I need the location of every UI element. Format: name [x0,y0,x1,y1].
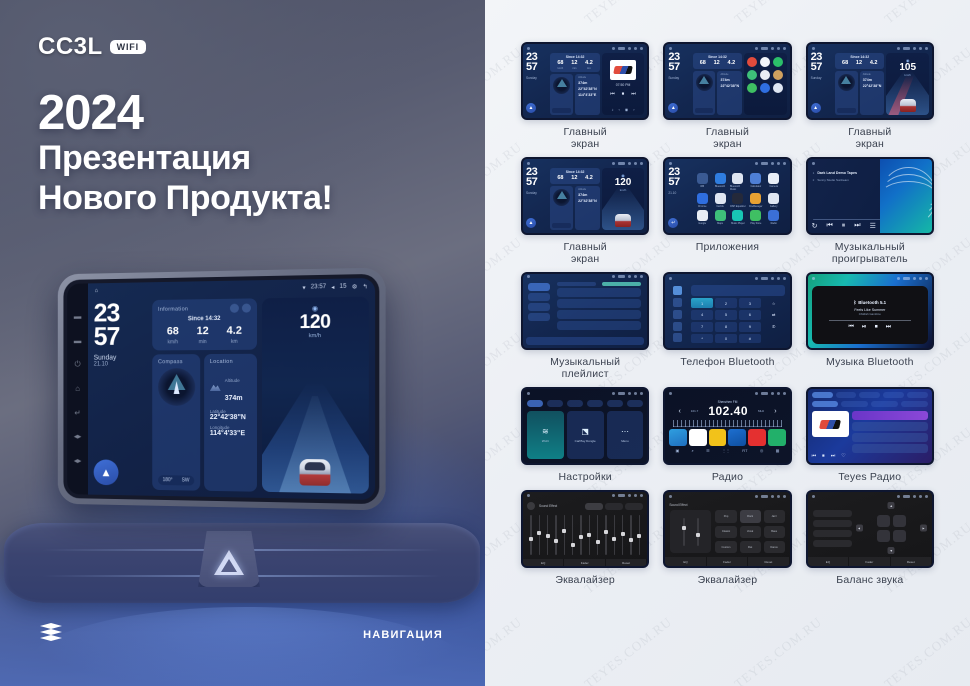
now-playing-bar[interactable] [526,337,644,345]
app-cell[interactable]: Carlink [712,193,728,208]
thumb-nav-button[interactable]: ▲ [526,218,536,228]
speed-panel: ◉ 105 km/h [886,53,929,115]
app-icon[interactable] [697,210,708,221]
list-item[interactable]: 23 57 Sunday ▲ Since 14:32 68km/h [521,42,649,150]
hazard-light-button[interactable] [198,531,260,587]
thumbnail-bt-phone[interactable]: 123☆456⇄789✆*0# [663,272,791,350]
playlist-tab[interactable] [528,293,550,301]
list-item[interactable] [557,299,641,308]
app-icon[interactable] [715,193,726,204]
next-station-icon[interactable]: › [774,408,776,415]
dialpad-spacer [763,334,785,344]
app-icon[interactable] [750,193,761,204]
volume-up-button[interactable]: ◂▸ [73,433,82,442]
location-title: Location [210,359,251,365]
reset-tab[interactable]: Reset [748,557,789,566]
play-pause-icon[interactable]: ⏯ [862,324,867,331]
app-icon[interactable] [697,173,708,184]
settings-tab[interactable] [567,400,583,407]
compass-title: Compass [158,359,194,365]
app-cell[interactable]: Bluetooth [712,173,728,191]
thumbnail-bt-music[interactable]: ᛒ Bluetooth 5.1 Feels Like Summer Childi… [806,272,934,350]
car-dashboard: ▬ ▬ ⏻ ⌂ ↵ ◂▸ ◂▸ ⌂ ▾ 23:57 [0,255,485,686]
eq-preset-button[interactable]: Classic [715,526,736,538]
station-row[interactable] [852,433,928,442]
nav-tab[interactable] [907,392,928,398]
app-label: Music Player [731,222,745,225]
dialpad-tab[interactable] [673,286,682,295]
thumbnail-settings[interactable]: ≋ Wi-Fi ⬔ CarPlay Dongle ⋯ Menu [521,387,649,465]
car-icon [615,214,631,227]
list-item[interactable] [557,288,641,297]
app-icon[interactable] [747,83,757,93]
balance-pad[interactable]: ▴ ▾ ◂ ▸ [856,503,927,553]
eq-band-slider[interactable] [612,515,616,555]
list-item[interactable]: 23 57 Sunday ▲ Since 14:32 68 [806,42,934,150]
media-widget[interactable]: 07:50 PM ⏮⏹⏭ ♪‹◉› [602,53,645,115]
eq-button[interactable]: ▬ [73,337,82,346]
prev-station-icon[interactable]: ‹ [678,408,680,415]
app-icon[interactable] [768,210,779,221]
expand-icon[interactable] [242,303,251,312]
thumb-nav-button[interactable]: ▲ [668,103,678,113]
next-icon[interactable]: ⏭ [831,453,836,459]
app-icon[interactable] [773,70,783,80]
thumbnail-music-player[interactable]: 1Dark Land Demo Tapes 2Sunny Studio Sunb… [806,157,934,235]
prev-icon[interactable]: ⏮ [812,453,817,459]
compass-heading: 180° [163,477,173,483]
prev-icon[interactable]: ⏮ [849,324,854,331]
tab[interactable] [557,282,596,286]
thumb-clock-mm: 57 [526,63,548,73]
eq-preset-button[interactable]: Custom [715,541,736,553]
eq-tab[interactable]: EQ [665,557,706,566]
eq-band-slider[interactable] [579,515,583,555]
app-icon[interactable] [773,57,783,67]
information-title: Information [158,306,188,312]
slider-knob[interactable] [537,531,541,535]
stop-icon[interactable]: ⏹ [875,324,878,331]
slider-knob[interactable] [604,530,608,534]
settings-tab[interactable] [673,333,682,342]
list-icon[interactable]: ☰ [706,448,710,453]
navigation-button[interactable]: ▲ [94,459,119,485]
bluetooth-badge: ᛒ Bluetooth 5.1 [854,300,886,305]
head-unit-side-buttons: ▬ ▬ ⏻ ⌂ ↵ ◂▸ ◂▸ [67,283,88,494]
balance-button[interactable] [813,540,852,547]
eq-band-slider[interactable] [621,515,625,555]
balance-down-arrow[interactable]: ▾ [888,547,895,554]
app-icon[interactable] [750,210,761,221]
head-unit-screen[interactable]: ⌂ ▾ 23:57 ◂ 15 ⚙ ↰ 23 57 [88,278,375,500]
app-icon[interactable] [747,57,757,67]
volume-down-button[interactable]: ◂▸ [73,457,82,466]
list-item[interactable]: ≋ Wi-Fi ⬔ CarPlay Dongle ⋯ Menu [521,387,649,483]
balance-button[interactable] [813,510,852,517]
stat-unit: km/h [167,339,179,345]
app-icon[interactable] [773,83,783,93]
app-cell[interactable]: Maps [712,210,728,225]
app-cell[interactable]: Wifi [694,173,710,191]
slider-knob[interactable] [562,529,566,533]
app-icon[interactable] [768,173,779,184]
speed-panel: ◉ 120 km/h [602,168,645,230]
station-row[interactable] [852,444,928,453]
list-item[interactable]: 1Dark Land Demo Tapes 2Sunny Studio Sunb… [806,157,934,265]
home-indicator-icon: ⌂ [95,288,98,294]
eq-band-slider[interactable] [571,515,575,555]
app-cell[interactable]: Camera [766,173,782,191]
eq-band-slider[interactable] [554,515,558,555]
eq-preset-button[interactable]: Jazz [764,510,785,522]
thumbnail-home-speed-105[interactable]: 23 57 Sunday ▲ Since 14:32 68 [806,42,934,120]
thumbnail-equalizer[interactable]: Sound Effect EQ Fader Reset [521,490,649,568]
settings-tab[interactable] [587,400,603,407]
list-item[interactable]: Shenzhen FM ‹ 101.7 102.40 MHz › [663,387,791,483]
app-label: Bluetooth Music [730,185,746,191]
settings-card[interactable]: ⬔ CarPlay Dongle [567,411,604,459]
rds-icon[interactable]: RT [742,448,747,453]
compass-direction: SW [182,477,190,483]
list-item[interactable]: 23 57 Sunday ▲ Since 14:32 68 [663,42,791,150]
settings-card[interactable]: ≋ Wi-Fi [527,411,564,459]
list-item[interactable]: Sound Effect EQ Fader Reset [521,490,649,586]
eq-band-slider[interactable] [604,515,608,555]
watermark-text: TEYES.COM.RU [581,614,675,686]
thumbnail-home-media[interactable]: 23 57 Sunday ▲ Since 14:32 68km/h [521,42,649,120]
eq-band-slider[interactable] [596,515,600,555]
slider-knob[interactable] [612,537,616,541]
playlist-tab[interactable] [528,283,550,291]
app-cell[interactable]: Bluetooth Music [730,173,746,191]
eq-band-slider[interactable] [537,515,541,555]
widgets-column: Information Since 14:32 68 [152,298,257,491]
dialpad-key[interactable]: 4 [691,310,713,320]
stop-icon[interactable]: ⏹ [822,453,825,459]
app-cell[interactable]: Music Player [730,210,746,225]
refresh-icon[interactable] [230,304,239,313]
stat-unit: km [227,339,242,345]
slider-knob[interactable] [596,540,600,544]
tuning-scale[interactable] [673,420,781,427]
thumb-stat: 4.2 [585,61,593,67]
thumbnail-teyes-radio[interactable]: ⏮ ⏹ ⏭ ♡ [806,387,934,465]
thumbnail-grid: 23 57 Sunday ▲ Since 14:32 68km/h [485,0,970,597]
slider-knob[interactable] [579,535,583,539]
thumbnail-caption: Настройки [559,471,612,483]
balance-button[interactable] [813,520,852,527]
media-time: 07:50 PM [616,83,631,87]
dialpad-key[interactable]: 8 [715,322,737,332]
stat-value: 4.2 [227,326,242,337]
speed-panel: ◉ 120 km/h [262,297,369,494]
filter-chip[interactable] [871,401,898,407]
head-unit-bezel: ▬ ▬ ⏻ ⌂ ↵ ◂▸ ◂▸ ⌂ ▾ 23:57 [58,268,386,511]
eq-preset-button[interactable]: Flat [740,541,761,553]
tab[interactable] [602,282,641,286]
dialpad-key[interactable]: # [739,334,761,344]
station-tile[interactable] [768,429,786,446]
balance-left-arrow[interactable]: ◂ [856,525,863,532]
fader-sliders[interactable] [670,510,711,553]
dialpad-key[interactable]: 5 [715,310,737,320]
thumbnail-caption: Музыкальный проигрыватель [832,241,908,265]
slider-knob[interactable] [587,533,591,537]
eq-preset-button[interactable]: Pop [715,510,736,522]
list-item[interactable]: ᛒ Bluetooth 5.1 Feels Like Summer Childi… [806,272,934,380]
slider-knob[interactable] [546,534,550,538]
eq-band-slider[interactable] [587,515,591,555]
app-label: DSP Equalizer [730,205,746,208]
grid-icon[interactable]: ▦ [776,448,780,453]
mountain-icon [210,383,221,391]
dialpad-key[interactable]: 1 [691,298,713,308]
dialpad-key[interactable]: 0 [715,334,737,344]
fader-tab[interactable]: Fader [849,557,890,566]
prev-icon[interactable]: ⏮ [610,91,615,97]
contacts-tab[interactable] [673,298,682,307]
dialpad-key[interactable]: 6 [739,310,761,320]
prev-icon[interactable]: ⏮ [826,222,832,230]
music-visualizer [880,159,932,233]
slider-knob[interactable] [637,534,641,538]
eq-band-slider[interactable] [629,515,633,555]
favorite-icon[interactable]: ♡ [841,453,845,459]
progress-bar[interactable] [829,320,910,321]
settings-tab[interactable] [627,400,643,407]
album-art [812,411,849,437]
playlist-tab[interactable] [528,303,550,311]
slider-knob[interactable] [621,532,625,536]
list-item[interactable] [557,321,641,330]
dialpad-function-key[interactable]: ✆ [763,322,785,332]
thumbnail-caption: Музыка Bluetooth [826,356,914,368]
nav-tab[interactable] [883,392,904,398]
bt-music-card: ᛒ Bluetooth 5.1 Feels Like Summer Childi… [812,286,928,344]
app-cell[interactable]: DSP Equalizer [730,193,746,208]
dialpad-key[interactable]: 2 [715,298,737,308]
compass-dial [158,368,195,406]
station-tile[interactable] [669,429,687,446]
watermark-text: TEYES.COM.RU [881,614,970,686]
gear-icon[interactable]: ⚙ [352,283,358,290]
repeat-icon[interactable]: ↻ [812,222,818,230]
car-icon [900,99,916,112]
band-icon[interactable]: ▣ [675,448,679,453]
app-cell[interactable]: Radio [766,210,782,225]
settings-tab[interactable] [527,400,543,407]
list-item[interactable]: 123☆456⇄789✆*0# Телефон Bluetooth [663,272,791,380]
track-title[interactable]: Dark Land Demo Tapes [817,171,857,175]
thumbnail-playlist[interactable] [521,272,649,350]
eq-preset-button[interactable]: Vocal [740,526,761,538]
app-cell[interactable]: FileManager [748,193,764,208]
eq-preset-button[interactable]: Rock [740,510,761,522]
slider-knob[interactable] [629,538,633,542]
phone-number-field[interactable] [691,285,784,296]
dialpad-key[interactable]: * [691,334,713,344]
eq-band-slider[interactable] [637,515,641,555]
bt-track-artist: Childish Gambino [859,312,881,316]
back-button[interactable]: ↵ [668,218,678,228]
search-tab[interactable] [673,310,682,319]
slider-knob[interactable] [554,539,558,543]
apps-side-panel[interactable] [744,53,787,115]
power-button[interactable]: ⏻ [73,361,82,370]
track-subtitle[interactable]: Sunny Studio Sunbeam [817,178,849,182]
next-icon[interactable]: ⏭ [631,91,636,97]
thumbnail-apps[interactable]: 23 57 21.10 ↵ WifiBluetoothBluetooth Mus… [663,157,791,235]
app-icon[interactable] [715,210,726,221]
thumbnail-home-speed-120[interactable]: 23 57 Sunday ▲ Since 14:32 68 [521,157,649,235]
thumb-nav-button[interactable]: ▲ [526,103,536,113]
thumbnail-radio[interactable]: Shenzhen FM ‹ 101.7 102.40 MHz › [663,387,791,465]
filter-chip[interactable] [841,401,868,407]
search-icon[interactable]: ⌕ [692,448,694,453]
clock-date: 21.10 [94,361,148,367]
station-row[interactable] [852,422,928,431]
reset-tab[interactable]: Reset [891,557,932,566]
eq-tab[interactable]: EQ [808,557,849,566]
filter-chip[interactable] [901,401,928,407]
app-icon[interactable] [750,173,761,184]
station-tile[interactable] [709,429,727,446]
settings-tab[interactable] [547,400,563,407]
dialpad-function-key[interactable]: ☆ [763,298,785,308]
nav-tab[interactable] [836,392,857,398]
playlist-tab[interactable] [528,313,550,321]
filter-chip[interactable] [812,401,839,407]
station-row[interactable] [852,411,928,420]
dialpad-key[interactable]: 3 [739,298,761,308]
status-time: 23:57 [311,284,326,290]
station-tile[interactable] [728,429,746,446]
nav-tab[interactable] [812,392,833,398]
home-button[interactable]: ⌂ [73,385,82,394]
balance-button[interactable] [813,530,852,537]
information-card: Information Since 14:32 68 [152,298,257,350]
app-icon[interactable] [732,193,743,204]
list-icon[interactable]: ☰ [870,222,876,230]
list-item[interactable]: Sound Effect PopRockJazzClassicVocalBass… [663,490,791,586]
list-item[interactable]: ⏮ ⏹ ⏭ ♡ [806,387,934,483]
hero-heading: 2024 Презентация Нового Продукта! [38,88,332,218]
slider-knob[interactable] [529,537,533,541]
thumbnail-caption: Приложения [696,241,759,253]
radio-frequency: 102.40 [708,404,748,418]
thumb-nav-button[interactable]: ▲ [811,103,821,113]
reset-tab[interactable]: Reset [606,559,647,566]
next-icon[interactable]: ⏭ [886,324,891,331]
dialpad-function-key[interactable]: ⇄ [763,310,785,320]
eq-band-slider[interactable] [562,515,566,555]
eq-band-slider[interactable] [546,515,550,555]
preset-button[interactable] [605,503,623,510]
preset-button[interactable] [625,503,643,510]
speed-value: 120 [299,313,330,333]
wifi-badge: WIFI [110,40,146,54]
mic-button[interactable]: ▬ [73,312,82,321]
eq-icon[interactable]: ⋮⋮ [722,448,730,453]
app-icon[interactable] [760,70,770,80]
pause-icon[interactable]: ⏸ [842,222,846,230]
app-cell[interactable]: Gallery [766,193,782,208]
thumb-since: Since 14:32 [553,55,596,59]
preset-button[interactable] [585,503,603,510]
nav-tab[interactable] [859,392,880,398]
app-icon[interactable] [732,173,743,184]
watermark-text: TEYES.COM.RU [731,614,825,686]
fader-tab[interactable]: Fader [707,557,748,566]
clock-minutes: 57 [94,324,148,349]
stat-unit: min [197,339,209,345]
balance-up-arrow[interactable]: ▴ [888,502,895,509]
dialpad-key[interactable]: 9 [739,322,761,332]
thumb-day: Sunday [526,76,548,80]
app-cell[interactable]: Chrome [694,193,710,208]
thumbnail-caption: Баланс звука [836,574,903,586]
app-icon[interactable] [760,83,770,93]
back-icon[interactable]: ↰ [363,283,368,290]
hero-year: 2024 [38,88,332,139]
thumbnail-home-apps[interactable]: 23 57 Sunday ▲ Since 14:32 68 [663,42,791,120]
app-label: Maps [717,222,723,225]
stat-item: 4.2 km [227,326,242,345]
thumbnail-equalizer-fader[interactable]: Sound Effect PopRockJazzClassicVocalBass… [663,490,791,568]
eq-tab[interactable]: EQ [523,559,564,566]
app-icon[interactable] [760,57,770,67]
hazard-triangle-icon [214,550,244,575]
list-item[interactable] [557,310,641,319]
app-icon[interactable] [768,193,779,204]
watermark-text: TEYES.COM.RU [485,614,525,686]
station-tile[interactable] [689,429,707,446]
eq-preset-button[interactable]: Dance [764,541,785,553]
app-cell[interactable]: Calculator [748,173,764,191]
list-item[interactable]: 23 57 21.10 ↵ WifiBluetoothBluetooth Mus… [663,157,791,265]
app-icon[interactable] [715,173,726,184]
back-button[interactable]: ↵ [73,409,82,418]
menu-icon: ⋯ [621,427,629,436]
app-icon[interactable] [697,193,708,204]
list-item[interactable]: Музыкальный плейлист [521,272,649,380]
app-icon[interactable] [732,210,743,221]
thumbnail-caption: Радио [712,471,743,483]
settings-tab[interactable] [607,400,623,407]
app-icon[interactable] [747,70,757,80]
history-tab[interactable] [673,322,682,331]
eq-band-slider[interactable] [529,515,533,555]
app-cell[interactable]: Google [694,210,710,225]
settings-card[interactable]: ⋯ Menu [607,411,644,459]
location-card: Location Altitude 374m [204,354,257,492]
stop-icon[interactable]: ⏹ [622,91,625,97]
eq-preset-button[interactable]: Bass [764,526,785,538]
loc-icon[interactable]: ◎ [760,448,764,453]
thumbnail-balance[interactable]: ▴ ▾ ◂ ▸ [806,490,934,568]
dialpad-key[interactable]: 7 [691,322,713,332]
station-tile[interactable] [748,429,766,446]
progress-bar[interactable] [813,219,881,220]
stat-value: 12 [197,326,209,337]
list-item[interactable]: 23 57 Sunday ▲ Since 14:32 68 [521,157,649,265]
fader-tab[interactable]: Fader [564,559,605,566]
list-item[interactable]: ▴ ▾ ◂ ▸ [806,490,934,586]
app-cell[interactable]: Play Store [748,210,764,225]
balance-right-arrow[interactable]: ▸ [920,525,927,532]
slider-knob[interactable] [571,543,575,547]
next-icon[interactable]: ⏭ [854,222,860,230]
